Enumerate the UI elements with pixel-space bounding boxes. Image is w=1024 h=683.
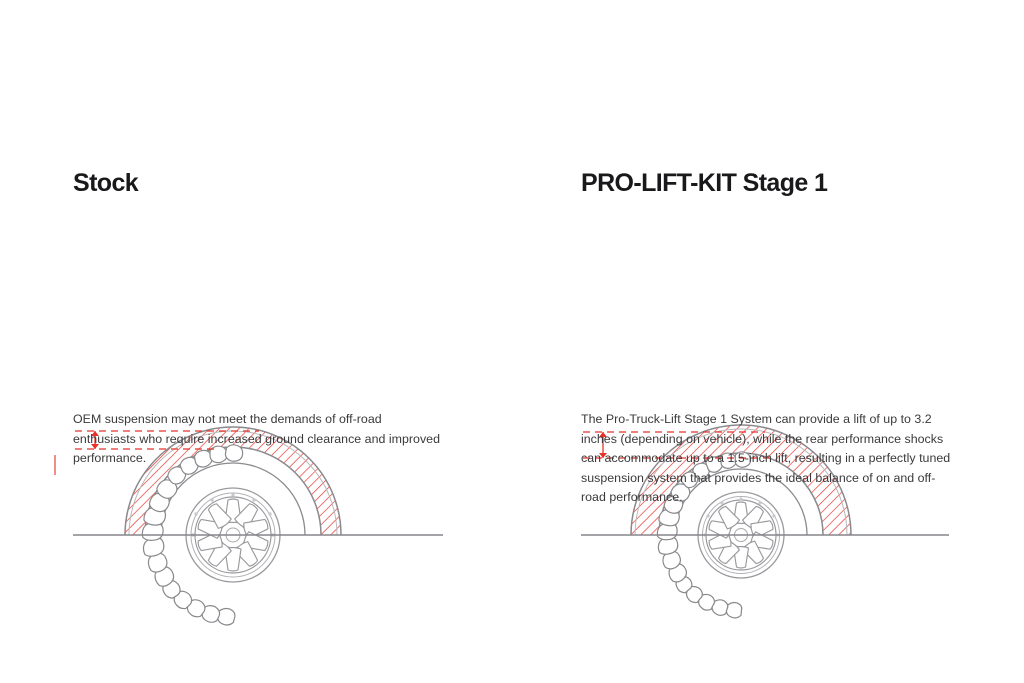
panel-title: PRO-LIFT-KIT Stage 1 xyxy=(581,170,981,198)
panel-caption: OEM suspension may not meet the demands … xyxy=(73,410,445,468)
panel-stock: Stock xyxy=(73,170,473,198)
panel-title: Stock xyxy=(73,170,473,198)
panel-caption: The Pro-Truck-Lift Stage 1 System can pr… xyxy=(581,410,957,507)
panel-pro-lift-kit-stage-1: PRO-LIFT-KIT Stage 1 xyxy=(581,170,981,198)
diagram-canvas: Stock xyxy=(0,0,1024,683)
